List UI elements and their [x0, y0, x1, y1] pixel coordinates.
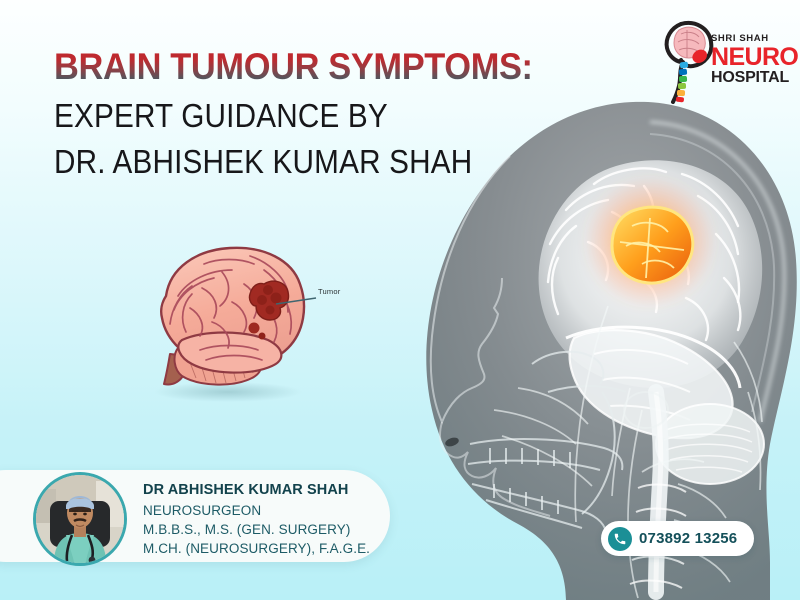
cerebellum	[656, 404, 764, 484]
doctor-name: DR ABHISHEK KUMAR SHAH	[143, 481, 423, 501]
doctor-avatar	[33, 472, 127, 566]
headline-block: BRAIN TUMOUR SYMPTOMS: EXPERT GUIDANCE B…	[54, 48, 574, 184]
tumor-glow	[584, 176, 716, 308]
logo-line-neuro: NEURO	[711, 45, 789, 69]
subtitle-line-1: EXPERT GUIDANCE BY	[54, 94, 522, 138]
tumor-label: Tumor	[318, 287, 340, 296]
subtitle-line-2: DR. ABHISHEK KUMAR SHAH	[54, 140, 522, 184]
doctor-degree-line-1: M.B.B.S., M.S. (GEN. SURGERY)	[143, 520, 423, 539]
phone-number: 073892 13256	[639, 530, 737, 547]
phone-icon	[608, 527, 632, 551]
phone-contact-badge[interactable]: 073892 13256	[601, 521, 754, 556]
brain-tumor-diagram	[104, 236, 354, 406]
logo-wordmark: SHRI SHAH NEURO HOSPITAL	[711, 34, 789, 86]
poster-canvas: BRAIN TUMOUR SYMPTOMS: EXPERT GUIDANCE B…	[0, 0, 800, 600]
page-title: BRAIN TUMOUR SYMPTOMS:	[54, 48, 538, 85]
doctor-info: DR ABHISHEK KUMAR SHAH NEUROSURGEON M.B.…	[143, 481, 423, 558]
hospital-logo[interactable]: SHRI SHAH NEURO HOSPITAL	[661, 18, 786, 104]
head-spine-logo-icon	[661, 18, 717, 104]
doctor-role: NEUROSURGEON	[143, 501, 423, 520]
logo-line-hospital: HOSPITAL	[711, 70, 789, 86]
doctor-degree-line-2: M.CH. (NEUROSURGERY), F.A.G.E.	[143, 539, 423, 558]
